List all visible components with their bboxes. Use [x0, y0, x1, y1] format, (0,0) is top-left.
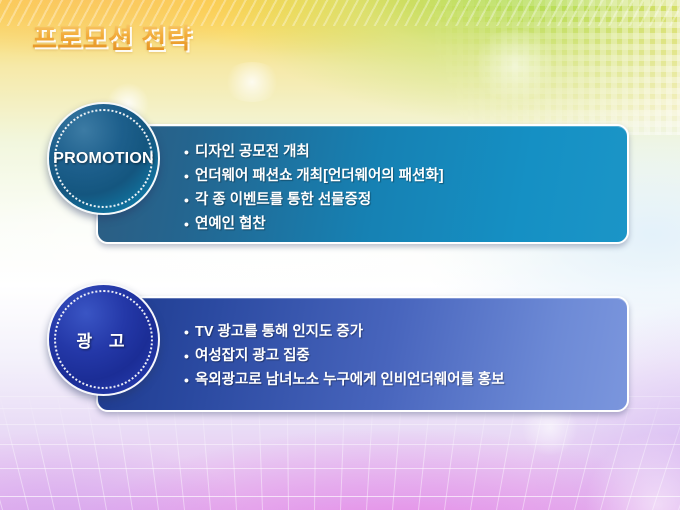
- list-item: • TV 광고를 통해 인지도 증가: [184, 320, 613, 344]
- grid-line-vertical: [0, 392, 29, 510]
- bullet-marker-icon: •: [184, 164, 195, 188]
- bullet-list-promotion: • 디자인 공모전 개최 • 언더웨어 패션쇼 개최[언더웨어의 패션화] • …: [184, 140, 613, 236]
- presentation-slide: 프로모션 전략 • 디자인 공모전 개최 • 언더웨어 패션쇼 개최[언더웨어의…: [0, 0, 680, 510]
- list-item-text: 여성잡지 광고 집중: [195, 344, 310, 368]
- list-item: • 각 종 이벤트를 통한 선물증정: [184, 188, 613, 212]
- list-item-text: 언더웨어 패션쇼 개최[언더웨어의 패션화]: [195, 164, 444, 188]
- list-item: • 연예인 협찬: [184, 212, 613, 236]
- grid-line-horizontal: [0, 444, 680, 445]
- background-square-pattern: [380, 0, 680, 135]
- bullet-marker-icon: •: [184, 188, 195, 212]
- bullet-marker-icon: •: [184, 140, 195, 164]
- list-item-text: 옥외광고로 남녀노소 누구에게 인비언더웨어를 홍보: [195, 368, 505, 392]
- grid-line-horizontal: [0, 424, 680, 425]
- badge-label: PROMOTION: [53, 150, 153, 168]
- bullet-marker-icon: •: [184, 212, 195, 236]
- content-panel-promotion: • 디자인 공모전 개최 • 언더웨어 패션쇼 개최[언더웨어의 패션화] • …: [96, 124, 629, 244]
- list-item-text: 연예인 협찬: [195, 212, 266, 236]
- grid-line-vertical: [56, 392, 81, 510]
- slide-title: 프로모션 전략: [32, 17, 192, 56]
- bullet-marker-icon: •: [184, 320, 195, 344]
- badge-advertising: 광 고: [47, 283, 160, 396]
- badge-promotion: PROMOTION: [47, 102, 160, 215]
- list-item: • 디자인 공모전 개최: [184, 140, 613, 164]
- list-item-text: 각 종 이벤트를 통한 선물증정: [195, 188, 371, 212]
- bullet-list-advertising: • TV 광고를 통해 인지도 증가 • 여성잡지 광고 집중 • 옥외광고로 …: [184, 320, 613, 392]
- grid-line-horizontal: [0, 468, 680, 469]
- list-item-text: 디자인 공모전 개최: [195, 140, 310, 164]
- content-panel-advertising: • TV 광고를 통해 인지도 증가 • 여성잡지 광고 집중 • 옥외광고로 …: [96, 296, 629, 412]
- list-item: • 여성잡지 광고 집중: [184, 344, 613, 368]
- bullet-marker-icon: •: [184, 344, 195, 368]
- list-item: • 언더웨어 패션쇼 개최[언더웨어의 패션화]: [184, 164, 613, 188]
- list-item-text: TV 광고를 통해 인지도 증가: [195, 320, 363, 344]
- bullet-marker-icon: •: [184, 368, 195, 392]
- grid-line-vertical: [27, 392, 55, 510]
- list-item: • 옥외광고로 남녀노소 누구에게 인비언더웨어를 홍보: [184, 368, 613, 392]
- badge-label: 광 고: [76, 327, 130, 352]
